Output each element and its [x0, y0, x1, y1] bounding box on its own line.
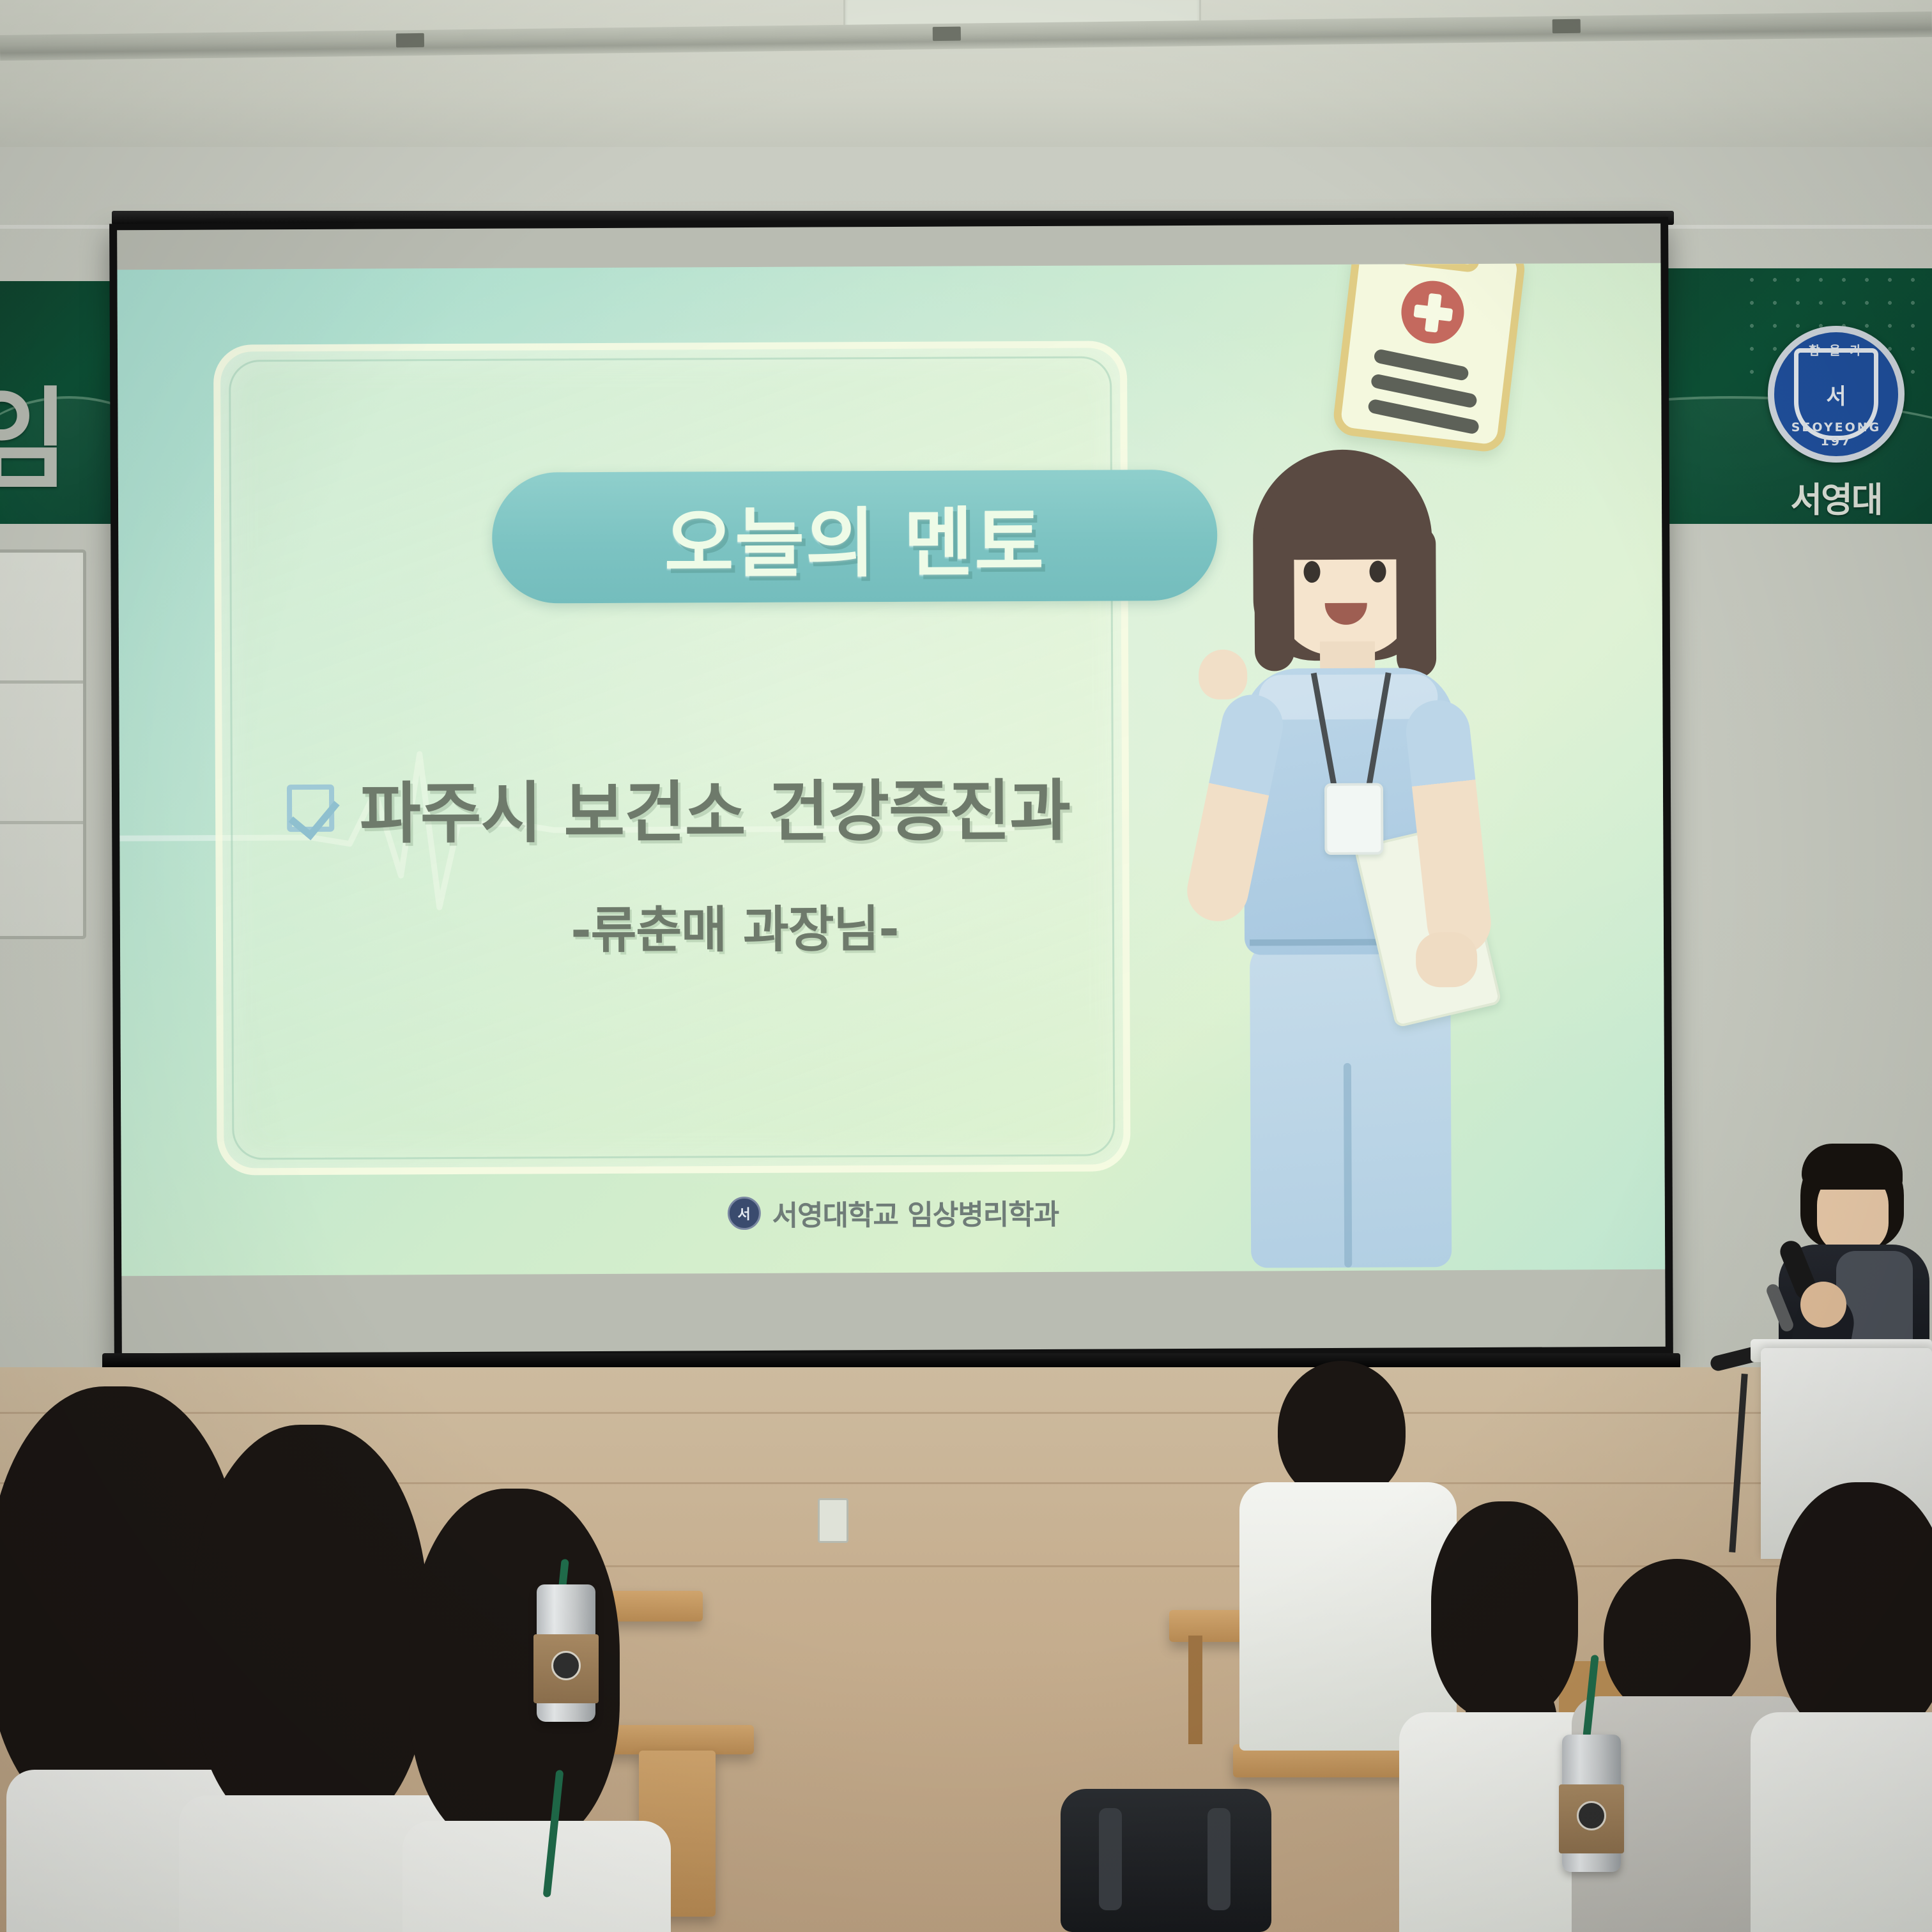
- presentation-slide: 오늘의 멘토 파주시 보건소 건강증진과 -류춘매 과장님- 서 서영대학교 임…: [117, 263, 1665, 1276]
- university-name-korean: 서영대: [1740, 471, 1932, 522]
- crest-ring-top-text: 함 울 가: [1774, 341, 1898, 358]
- nurse-hand-right: [1416, 932, 1477, 987]
- slide-footer: 서 서영대학교 임상병리학과: [121, 1189, 1665, 1237]
- slide-body-text: 파주시 보건소 건강증진과: [360, 756, 1071, 856]
- can-sleeve: [533, 1634, 599, 1703]
- audience-torso: [402, 1821, 671, 1932]
- audience-person: [409, 1489, 639, 1932]
- whiteboard-divider: [0, 821, 83, 824]
- desk-leg: [1188, 1636, 1202, 1744]
- backpack-strap: [1099, 1808, 1122, 1910]
- nurse-eye-left: [1303, 561, 1320, 583]
- backpack: [1061, 1789, 1271, 1932]
- whiteboard: [0, 549, 86, 939]
- university-crest-icon: 함 울 가 서 SEOYEONG 197: [1768, 326, 1905, 463]
- nurse-shoulder-highlight: [1259, 674, 1437, 719]
- nurse-hair-side-right: [1396, 526, 1436, 678]
- presenter-hair-front: [1802, 1144, 1903, 1190]
- whiteboard-divider: [0, 680, 83, 684]
- nurse-hair-side-left: [1254, 526, 1294, 671]
- presenter-hand: [1800, 1282, 1846, 1328]
- nurse-id-badge: [1324, 783, 1383, 855]
- can-sleeve: [1559, 1784, 1624, 1853]
- audience-hair: [1776, 1482, 1932, 1738]
- backpack-strap: [1207, 1808, 1230, 1910]
- screen-surface: 오늘의 멘토 파주시 보건소 건강증진과 -류춘매 과장님- 서 서영대학교 임…: [117, 224, 1666, 1354]
- nurse-leg-split: [1344, 1063, 1352, 1268]
- beverage-can: [537, 1584, 595, 1722]
- nurse-character-illustration: [1172, 449, 1534, 1275]
- floor-plank: [0, 1412, 1932, 1414]
- crest-ring-bottom-text: SEOYEONG 197: [1774, 420, 1898, 448]
- audience-torso: [1751, 1712, 1932, 1932]
- can-logo-icon: [551, 1651, 581, 1680]
- slide-footer-text: 서영대학교 임상병리학과: [772, 1192, 1059, 1234]
- rail-clip: [933, 27, 961, 42]
- audience-head: [1278, 1361, 1406, 1501]
- presenter-person: [1770, 1144, 1929, 1354]
- footer-crest-icon: 서: [727, 1197, 760, 1230]
- audience-head: [1604, 1559, 1751, 1719]
- slide-subtitle: -류춘매 과장님-: [287, 888, 1182, 963]
- medical-clipboard-icon: [1331, 263, 1527, 454]
- nurse-hand-left: [1199, 650, 1247, 700]
- wall-outlet: [818, 1498, 848, 1543]
- slide-body-line: 파주시 보건소 건강증진과: [287, 756, 1182, 856]
- audience-person: [1763, 1482, 1932, 1929]
- rail-clip: [1552, 19, 1581, 34]
- nurse-eye-right: [1369, 561, 1386, 583]
- rail-clip: [396, 33, 424, 48]
- audience-hair: [192, 1425, 428, 1834]
- beverage-can: [1562, 1735, 1621, 1872]
- university-name-english: SEOYEONG U: [1740, 522, 1932, 524]
- lecture-hall-scene: 임상 ! 함 울 가 서 SEOYEONG 197 서영대 SEOYEONG U: [0, 0, 1932, 1932]
- slide-title: 오늘의 멘토: [664, 481, 1045, 592]
- projector-screen: 오늘의 멘토 파주시 보건소 건강증진과 -류춘매 과장님- 서 서영대학교 임…: [109, 217, 1673, 1368]
- slide-title-pill: 오늘의 멘토: [492, 470, 1218, 604]
- university-crest-block: 함 울 가 서 SEOYEONG 197 서영대 SEOYEONG U: [1740, 326, 1932, 524]
- checkbox-checked-icon: [287, 784, 334, 831]
- can-logo-icon: [1577, 1801, 1606, 1830]
